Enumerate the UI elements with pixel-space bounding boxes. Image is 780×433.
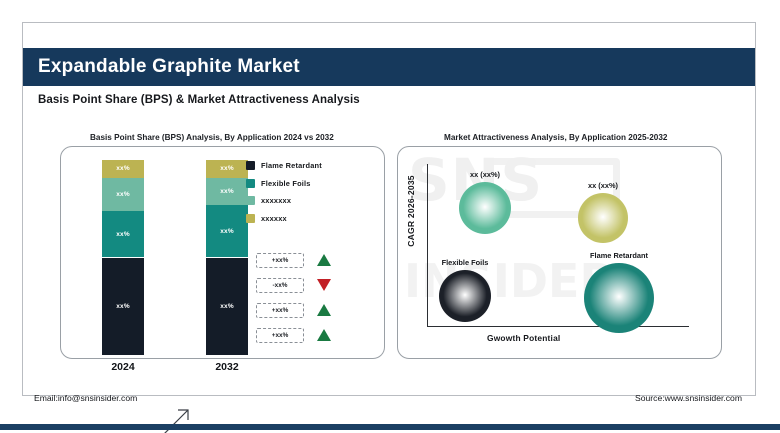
bps-segment-label: xx% [220, 165, 234, 172]
bottom-accent-strip [0, 424, 780, 430]
delta-badge: -xx% [256, 278, 304, 293]
bps-segment-label: xx% [116, 165, 130, 172]
delta-badge: +xx% [256, 253, 304, 268]
bubble-label: xx (xx%) [571, 181, 635, 190]
delta-value: +xx% [272, 332, 289, 339]
delta-row: +xx% [256, 253, 331, 267]
legend-swatch [246, 196, 255, 205]
bps-legend: Flame RetardantFlexible Foilsxxxxxxxxxxx… [246, 161, 322, 231]
bps-segment-label: xx% [220, 303, 234, 310]
bps-segment: xx% [206, 258, 248, 356]
footer-source: Source:www.snsinsider.com [635, 393, 742, 403]
infographic-page: Expandable Graphite Market Basis Point S… [0, 0, 780, 433]
delta-value: +xx% [272, 257, 289, 264]
legend-label: xxxxxx [261, 214, 287, 223]
attractiveness-chart: CAGR 2026-2035 Gwowth Potential xx (xx%)… [397, 146, 722, 359]
triangle-up-icon [317, 304, 331, 316]
legend-label: Flexible Foils [261, 179, 311, 188]
bps-segment-label: xx% [116, 191, 130, 198]
legend-item[interactable]: xxxxxx [246, 214, 322, 223]
legend-item[interactable]: xxxxxxx [246, 196, 322, 205]
bps-segment: xx% [206, 205, 248, 258]
bps-segment: xx% [102, 178, 144, 211]
delta-row: +xx% [256, 303, 331, 317]
legend-label: Flame Retardant [261, 161, 322, 170]
bubble[interactable] [584, 263, 654, 333]
delta-row: +xx% [256, 328, 331, 342]
delta-value: +xx% [272, 307, 289, 314]
bubble-label: xx (xx%) [453, 170, 517, 179]
bps-chart-title: Basis Point Share (BPS) Analysis, By App… [90, 133, 334, 142]
legend-swatch [246, 161, 255, 170]
page-subtitle: Basis Point Share (BPS) & Market Attract… [38, 94, 360, 106]
legend-swatch [246, 214, 255, 223]
bubble-label: Flexible Foils [433, 258, 497, 267]
bps-bar-2032: xx%xx%xx%xx% [206, 160, 248, 355]
triangle-up-icon [317, 254, 331, 266]
triangle-down-icon [317, 279, 331, 291]
attractiveness-chart-title: Market Attractiveness Analysis, By Appli… [444, 133, 667, 142]
bps-segment-label: xx% [220, 228, 234, 235]
y-axis-label: CAGR 2026-2035 [406, 165, 416, 257]
bps-segment: xx% [102, 258, 144, 356]
legend-swatch [246, 179, 255, 188]
bubble[interactable] [459, 182, 511, 234]
page-title: Expandable Graphite Market [38, 56, 300, 78]
legend-item[interactable]: Flame Retardant [246, 161, 322, 170]
bps-segment-label: xx% [220, 188, 234, 195]
delta-row: -xx% [256, 278, 331, 292]
delta-badge: +xx% [256, 328, 304, 343]
legend-item[interactable]: Flexible Foils [246, 179, 322, 188]
legend-label: xxxxxxx [261, 196, 291, 205]
bps-bar-2024: xx%xx%xx%xx% [102, 160, 144, 355]
bps-segment-label: xx% [116, 303, 130, 310]
delta-value: -xx% [273, 282, 288, 289]
bps-category-label: 2032 [197, 361, 257, 373]
bps-segment: xx% [102, 160, 144, 178]
bps-category-label: 2024 [93, 361, 153, 373]
bps-segment: xx% [102, 211, 144, 258]
bps-chart: xx%xx%xx%xx%2024xx%xx%xx%xx%2032 Flame R… [60, 146, 385, 376]
footer-email: Email:info@snsinsider.com [34, 393, 137, 403]
bps-delta-list: +xx%-xx%+xx%+xx% [256, 253, 331, 353]
bps-segment: xx% [206, 178, 248, 205]
bps-segment-label: xx% [116, 231, 130, 238]
x-axis-label: Gwowth Potential [487, 333, 560, 343]
delta-badge: +xx% [256, 303, 304, 318]
header-band: Expandable Graphite Market [23, 48, 755, 86]
bubble[interactable] [439, 270, 491, 322]
triangle-up-icon [317, 329, 331, 341]
y-axis-line [427, 164, 428, 326]
bubble[interactable] [578, 193, 628, 243]
bubble-label: Flame Retardant [587, 251, 651, 260]
x-axis-line [427, 326, 689, 327]
bps-segment: xx% [206, 160, 248, 178]
